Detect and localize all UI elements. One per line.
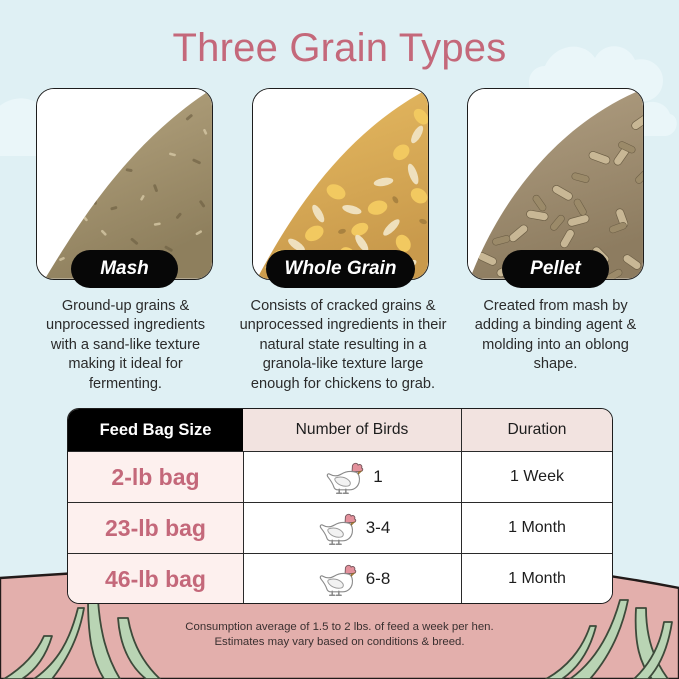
- bird-count: 1: [373, 467, 382, 487]
- cell-duration: 1 Month: [462, 554, 612, 604]
- table-row: 23-lb bag 3-4 1 Month: [68, 502, 612, 553]
- footnote-line-1: Consumption average of 1.5 to 2 lbs. of …: [0, 620, 679, 635]
- bird-count: 6-8: [366, 569, 391, 589]
- column-header-number-of-birds: Number of Birds: [243, 409, 462, 451]
- chicken-icon: [322, 460, 364, 494]
- column-header-duration: Duration: [462, 409, 612, 451]
- chicken-icon: [315, 511, 357, 545]
- grain-label-mash: Mash: [71, 250, 178, 288]
- grain-description-mash: Ground-up grains & unprocessed ingredien…: [33, 297, 218, 394]
- cell-number-of-birds: 3-4: [243, 503, 462, 553]
- cell-number-of-birds: 6-8: [243, 554, 462, 604]
- feed-bag-table: Feed Bag Size Number of Birds Duration 2…: [67, 408, 613, 604]
- grain-description-whole-grain: Consists of cracked grains & unprocessed…: [237, 297, 449, 394]
- cell-feed-bag-size: 2-lb bag: [68, 452, 243, 502]
- cell-feed-bag-size: 46-lb bag: [68, 554, 243, 604]
- table-header-row: Feed Bag Size Number of Birds Duration: [68, 409, 612, 451]
- grain-label-whole-grain: Whole Grain: [266, 250, 415, 288]
- table-row: 2-lb bag 1 1 Week: [68, 451, 612, 502]
- cell-duration: 1 Week: [462, 452, 612, 502]
- page-title: Three Grain Types: [0, 26, 679, 71]
- table-row: 46-lb bag 6-8 1 Month: [68, 553, 612, 604]
- grain-label-pellet: Pellet: [502, 250, 609, 288]
- footnote-line-2: Estimates may vary based on conditions &…: [0, 635, 679, 650]
- chicken-icon: [315, 562, 357, 596]
- footnote: Consumption average of 1.5 to 2 lbs. of …: [0, 620, 679, 650]
- cell-number-of-birds: 1: [243, 452, 462, 502]
- cell-duration: 1 Month: [462, 503, 612, 553]
- cell-feed-bag-size: 23-lb bag: [68, 503, 243, 553]
- grain-description-pellet: Created from mash by adding a binding ag…: [463, 297, 648, 375]
- bird-count: 3-4: [366, 518, 391, 538]
- column-header-feed-bag-size: Feed Bag Size: [68, 409, 243, 451]
